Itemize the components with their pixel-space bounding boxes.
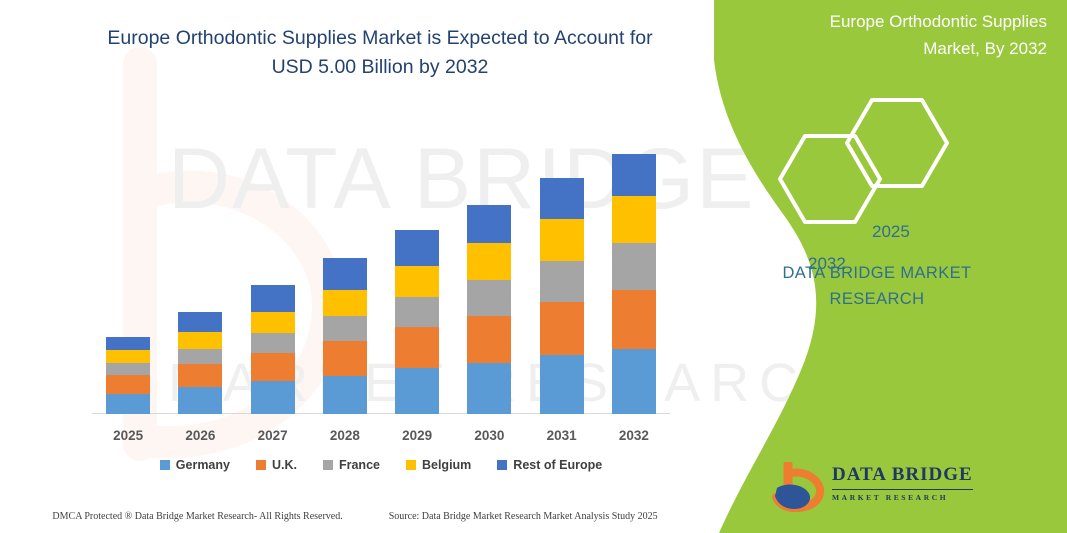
- side-panel-brand: DATA BRIDGE MARKET RESEARCH: [727, 260, 1027, 312]
- bar-column-2029: [381, 128, 453, 414]
- stacked-bar[interactable]: [251, 285, 295, 414]
- stacked-bar[interactable]: [395, 230, 439, 414]
- bar-column-2031: [526, 128, 598, 414]
- footer: DMCA Protected ® Data Bridge Market Rese…: [0, 506, 710, 526]
- page-title: Europe Orthodontic Supplies Market is Ex…: [60, 24, 700, 82]
- legend-label: U.K.: [272, 458, 297, 472]
- legend-swatch-icon: [323, 460, 333, 470]
- bar-segment-rest-of-europe[interactable]: [251, 285, 295, 312]
- bar-segment-belgium[interactable]: [540, 219, 584, 261]
- stacked-bar[interactable]: [540, 178, 584, 414]
- chart-title-line-2: USD 5.00 Billion by 2032: [272, 56, 489, 78]
- hexagon-shapes-icon: [737, 96, 1057, 226]
- bar-segment-rest-of-europe[interactable]: [323, 258, 367, 290]
- bar-segment-belgium[interactable]: [323, 290, 367, 316]
- bar-segment-france[interactable]: [612, 243, 656, 290]
- bar-column-2028: [309, 128, 381, 414]
- bar-segment-germany[interactable]: [251, 381, 295, 414]
- stacked-bar[interactable]: [178, 312, 222, 414]
- stacked-bar[interactable]: [467, 205, 511, 414]
- legend-item-belgium[interactable]: Belgium: [406, 458, 471, 472]
- x-tick-2026: 2026: [164, 428, 236, 443]
- logo-text-block: DATA BRIDGE MARKET RESEARCH: [832, 464, 973, 502]
- legend-swatch-icon: [160, 460, 170, 470]
- hexagon-label-2025: 2025: [872, 222, 910, 242]
- chart-legend: GermanyU.K.FranceBelgiumRest of Europe: [92, 454, 670, 476]
- brand-line-2: RESEARCH: [830, 290, 925, 308]
- data-bridge-b-logo-icon: [772, 462, 830, 512]
- side-panel-title-line-1: Europe Orthodontic Supplies: [830, 12, 1047, 31]
- bar-segment-u-k[interactable]: [540, 302, 584, 355]
- bar-segment-france[interactable]: [178, 349, 222, 364]
- bar-segment-belgium[interactable]: [178, 332, 222, 349]
- bar-segment-rest-of-europe[interactable]: [106, 337, 150, 350]
- bar-segment-u-k[interactable]: [612, 290, 656, 349]
- company-logo: DATA BRIDGE MARKET RESEARCH: [772, 462, 987, 514]
- bar-segment-u-k[interactable]: [251, 353, 295, 382]
- x-axis-tick-labels: 20252026202720282029203020312032: [92, 424, 670, 446]
- bar-column-2027: [237, 128, 309, 414]
- bar-segment-germany[interactable]: [540, 355, 584, 414]
- brand-line-1: DATA BRIDGE MARKET: [782, 264, 971, 282]
- logo-tagline: MARKET RESEARCH: [832, 489, 973, 502]
- legend-swatch-icon: [497, 460, 507, 470]
- bar-segment-germany[interactable]: [612, 349, 656, 414]
- stacked-bar[interactable]: [323, 258, 367, 414]
- logo-company-name: DATA BRIDGE: [832, 464, 973, 486]
- bar-segment-belgium[interactable]: [467, 243, 511, 280]
- bar-segment-belgium[interactable]: [395, 266, 439, 297]
- infographic-root: DATA BRIDGE MARKET RESEARCH Europe Ortho…: [0, 0, 1067, 533]
- bar-segment-germany[interactable]: [467, 363, 511, 414]
- bar-segment-u-k[interactable]: [323, 341, 367, 376]
- footer-copyright: DMCA Protected ® Data Bridge Market Rese…: [52, 511, 342, 522]
- legend-label: Rest of Europe: [513, 458, 602, 472]
- bar-segment-germany[interactable]: [323, 376, 367, 414]
- legend-label: Belgium: [422, 458, 471, 472]
- bar-segment-france[interactable]: [323, 316, 367, 341]
- bar-segment-u-k[interactable]: [106, 375, 150, 394]
- bar-segment-belgium[interactable]: [612, 196, 656, 244]
- side-panel-title-line-2: Market, By 2032: [923, 39, 1047, 58]
- hexagon-group: 2032 2025: [737, 96, 1057, 212]
- legend-label: France: [339, 458, 380, 472]
- legend-swatch-icon: [256, 460, 266, 470]
- x-tick-2031: 2031: [526, 428, 598, 443]
- x-tick-2030: 2030: [453, 428, 525, 443]
- x-tick-2027: 2027: [237, 428, 309, 443]
- stacked-bar[interactable]: [106, 337, 150, 414]
- bar-column-2032: [598, 128, 670, 414]
- bar-segment-germany[interactable]: [106, 394, 150, 414]
- bar-segment-rest-of-europe[interactable]: [178, 312, 222, 332]
- bar-segment-u-k[interactable]: [467, 316, 511, 363]
- chart-panel: Europe Orthodontic Supplies Market is Ex…: [0, 0, 760, 533]
- bar-segment-germany[interactable]: [395, 368, 439, 414]
- legend-item-france[interactable]: France: [323, 458, 380, 472]
- hexagon-2032-shape: [780, 136, 880, 222]
- bar-segment-belgium[interactable]: [106, 350, 150, 363]
- bar-segment-france[interactable]: [540, 261, 584, 302]
- plot-area: [92, 128, 670, 414]
- bar-column-2026: [164, 128, 236, 414]
- bar-segment-u-k[interactable]: [178, 364, 222, 387]
- bar-segment-france[interactable]: [251, 333, 295, 353]
- stacked-bar[interactable]: [612, 154, 656, 414]
- bar-segment-germany[interactable]: [178, 387, 222, 414]
- bar-segment-rest-of-europe[interactable]: [540, 178, 584, 219]
- bar-column-2030: [453, 128, 525, 414]
- bar-segment-rest-of-europe[interactable]: [395, 230, 439, 266]
- side-panel-content: Europe Orthodontic Supplies Market, By 2…: [687, 0, 1067, 533]
- legend-item-rest-of-europe[interactable]: Rest of Europe: [497, 458, 602, 472]
- bar-segment-rest-of-europe[interactable]: [467, 205, 511, 243]
- legend-item-u-k[interactable]: U.K.: [256, 458, 297, 472]
- bar-segment-belgium[interactable]: [251, 312, 295, 333]
- legend-item-germany[interactable]: Germany: [160, 458, 230, 472]
- bar-segment-rest-of-europe[interactable]: [612, 154, 656, 196]
- bar-segment-france[interactable]: [467, 280, 511, 316]
- legend-label: Germany: [176, 458, 230, 472]
- legend-swatch-icon: [406, 460, 416, 470]
- x-tick-2029: 2029: [381, 428, 453, 443]
- x-tick-2025: 2025: [92, 428, 164, 443]
- x-tick-2032: 2032: [598, 428, 670, 443]
- bar-segment-u-k[interactable]: [395, 327, 439, 368]
- bar-segment-france[interactable]: [106, 363, 150, 375]
- footer-source: Source: Data Bridge Market Research Mark…: [389, 511, 658, 522]
- bar-column-2025: [92, 128, 164, 414]
- bar-segment-france[interactable]: [395, 297, 439, 327]
- hexagon-2025-shape: [847, 100, 947, 186]
- chart-title-line-1: Europe Orthodontic Supplies Market is Ex…: [107, 27, 652, 49]
- x-tick-2028: 2028: [309, 428, 381, 443]
- side-panel-title: Europe Orthodontic Supplies Market, By 2…: [787, 8, 1047, 62]
- bar-group: [92, 128, 670, 414]
- side-panel: Europe Orthodontic Supplies Market, By 2…: [687, 0, 1067, 533]
